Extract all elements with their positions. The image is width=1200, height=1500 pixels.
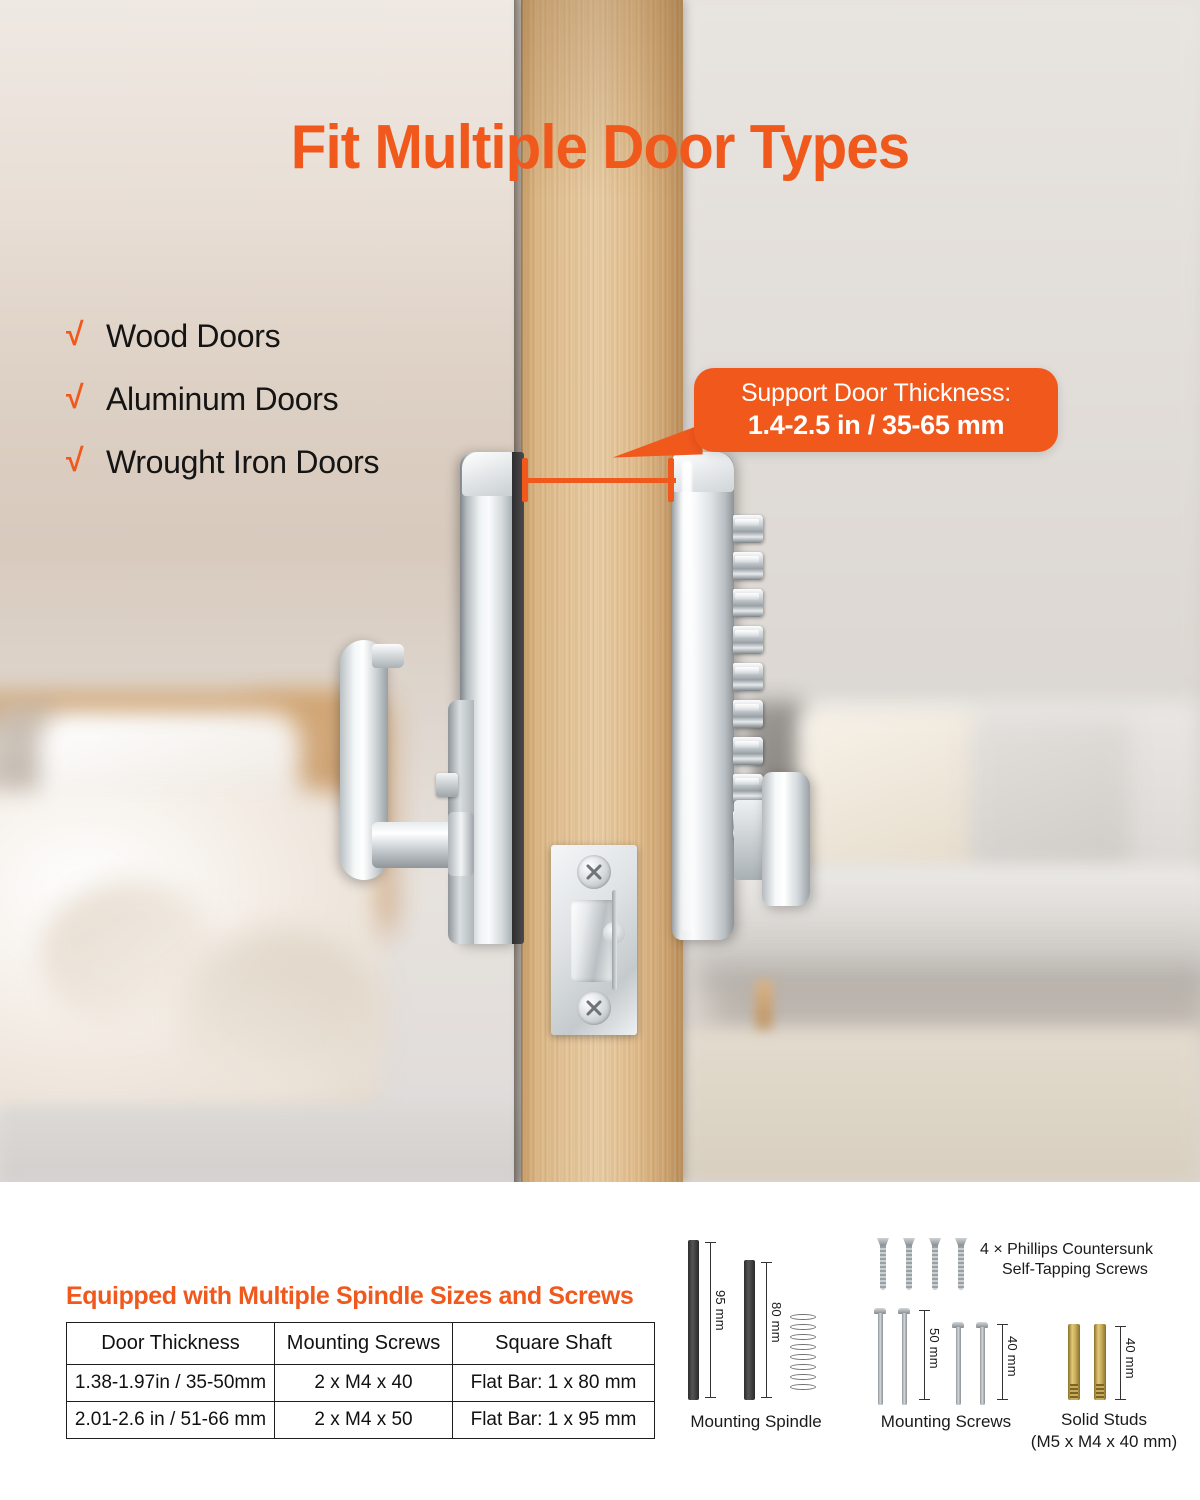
housing-release-tab (436, 773, 458, 797)
section-title: Equipped with Multiple Spindle Sizes and… (66, 1282, 633, 1311)
sofa-shadow (710, 985, 1200, 1035)
sofa-leg (755, 980, 773, 1035)
keypad-button (733, 552, 763, 580)
exterior-thumbturn-knob (762, 772, 810, 906)
table-header-row: Door Thickness Mounting Screws Square Sh… (67, 1323, 655, 1365)
bullet-label: Aluminum Doors (106, 381, 338, 418)
cell-mounting-screws: 2 x M4 x 40 (275, 1365, 453, 1402)
duvet-fold (180, 930, 380, 1100)
screws-50mm-dimension-bar (924, 1310, 925, 1400)
studs-length-label: 40 mm (1123, 1338, 1138, 1379)
solid-studs-caption-line-1: Solid Studs (1024, 1410, 1184, 1430)
column-header-door-thickness: Door Thickness (67, 1323, 275, 1365)
spindle-80mm (744, 1260, 755, 1400)
door-thickness-callout: Support Door Thickness: 1.4-2.5 in / 35-… (694, 368, 1058, 452)
check-icon: √ (66, 442, 106, 479)
sofa-cushion-grey (970, 720, 1130, 870)
list-item: √ Wood Doors (66, 318, 379, 355)
cell-square-shaft: Flat Bar: 1 x 80 mm (453, 1365, 655, 1402)
latch-guide-rod (612, 890, 617, 990)
lock-gasket (512, 452, 524, 944)
cell-door-thickness: 2.01-2.6 in / 51-66 mm (67, 1402, 275, 1439)
countersunk-screws-note: 4 × Phillips Countersunk Self-Tapping Sc… (980, 1240, 1180, 1280)
cell-door-thickness: 1.38-1.97in / 35-50mm (67, 1365, 275, 1402)
faceplate-screw (577, 991, 611, 1025)
column-header-square-shaft: Square Shaft (453, 1323, 655, 1365)
keypad-button (733, 737, 763, 765)
spindle-caption: Mounting Spindle (666, 1412, 846, 1432)
page-title: Fit Multiple Door Types (36, 112, 1164, 183)
faceplate-screw (577, 855, 611, 889)
list-item: √ Wrought Iron Doors (66, 444, 379, 481)
callout-line-1: Support Door Thickness: (741, 379, 1011, 407)
screws-40mm-dimension-bar (1002, 1324, 1003, 1400)
hardware-illustrations: 95 mm 80 mm Mounting Spindle 4 × Phillip… (666, 1232, 1186, 1462)
sofa-cushion-cream (800, 710, 980, 870)
studs-dimension-bar (1120, 1326, 1121, 1400)
solid-studs-caption-line-2: (M5 x M4 x 40 mm) (1014, 1432, 1194, 1452)
mounting-screws-caption: Mounting Screws (856, 1412, 1036, 1432)
column-header-mounting-screws: Mounting Screws (275, 1323, 453, 1365)
keypad-button (733, 663, 763, 691)
cell-square-shaft: Flat Bar: 1 x 95 mm (453, 1402, 655, 1439)
accessories-panel: Equipped with Multiple Spindle Sizes and… (0, 1182, 1200, 1500)
spindle-95mm-length-label: 95 mm (713, 1290, 728, 1331)
bullet-label: Wood Doors (106, 318, 280, 355)
countersunk-note-line-2: Self-Tapping Screws (980, 1260, 1180, 1280)
spring-icon (790, 1314, 816, 1398)
keypad-button (733, 626, 763, 654)
floor-rug (680, 1030, 1200, 1182)
interior-housing-top (462, 452, 516, 496)
keypad-button (733, 515, 763, 543)
list-item: √ Aluminum Doors (66, 381, 379, 418)
sofa-base (700, 930, 1200, 990)
keypad-button (733, 774, 763, 802)
countersunk-note-line-1: 4 × Phillips Countersunk (980, 1240, 1180, 1260)
spindle-95mm-dimension-bar (710, 1242, 711, 1398)
dimension-end-cap-right (668, 458, 674, 502)
table-row: 1.38-1.97in / 35-50mm 2 x M4 x 40 Flat B… (67, 1365, 655, 1402)
spindle-80mm-length-label: 80 mm (769, 1302, 784, 1343)
exterior-plate-highlight (682, 460, 692, 932)
latch-bolt (571, 900, 615, 982)
cell-mounting-screws: 2 x M4 x 50 (275, 1402, 453, 1439)
bullet-label: Wrought Iron Doors (106, 444, 379, 481)
lever-tip (372, 644, 404, 668)
spec-table: Door Thickness Mounting Screws Square Sh… (66, 1322, 655, 1439)
callout-pointer (611, 414, 702, 457)
product-photo-scene: Support Door Thickness: 1.4-2.5 in / 35-… (0, 0, 1200, 1182)
lever-collar (448, 812, 474, 876)
spindle-80mm-dimension-bar (766, 1262, 767, 1398)
feature-bullet-list: √ Wood Doors √ Aluminum Doors √ Wrought … (66, 318, 379, 507)
dimension-line (524, 478, 676, 483)
screws-40mm-length-label: 40 mm (1005, 1336, 1020, 1377)
spindle-95mm (688, 1240, 699, 1400)
callout-line-2: 1.4-2.5 in / 35-65 mm (748, 410, 1004, 440)
keypad-button (733, 700, 763, 728)
check-icon: √ (66, 316, 106, 353)
check-icon: √ (66, 379, 106, 416)
screws-50mm-length-label: 50 mm (927, 1328, 942, 1369)
keypad-button (733, 589, 763, 617)
table-row: 2.01-2.6 in / 51-66 mm 2 x M4 x 50 Flat … (67, 1402, 655, 1439)
